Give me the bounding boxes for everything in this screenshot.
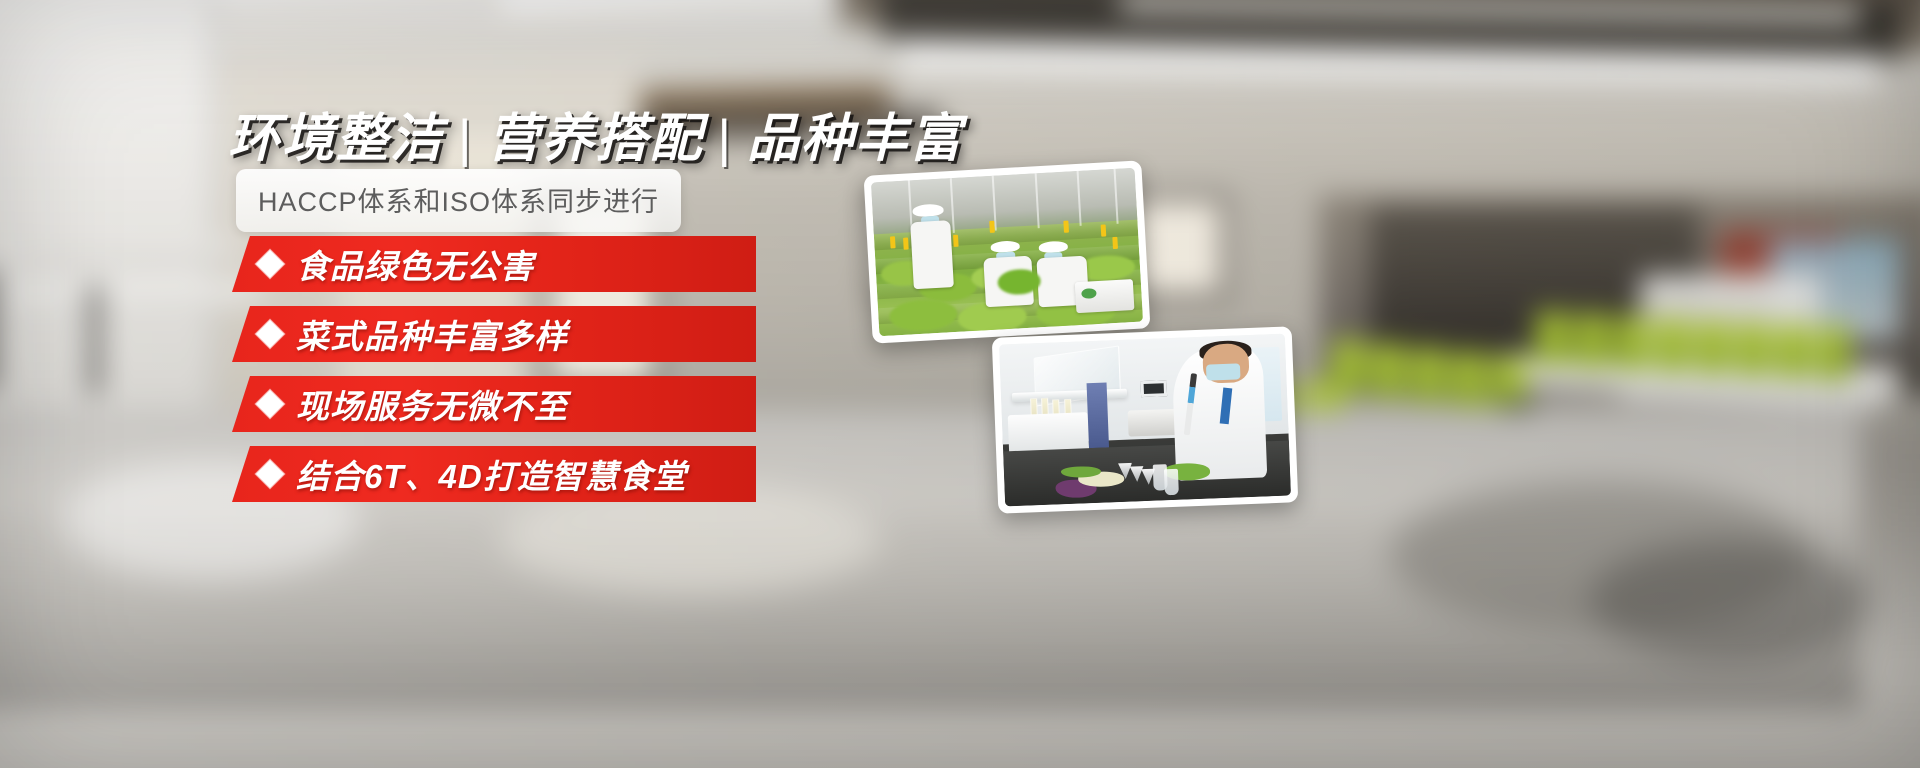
headline-part-3: 品种丰富 xyxy=(747,110,963,168)
page-title: 环境整洁|营养搭配|品种丰富 xyxy=(228,96,963,171)
greenhouse-inspection-photo xyxy=(864,160,1151,343)
feature-item-1-label: 食品绿色无公害 xyxy=(296,240,534,288)
diamond-icon xyxy=(256,390,284,418)
headline-separator-2: | xyxy=(704,110,748,168)
feature-item-2[interactable]: 菜式品种丰富多样 xyxy=(232,306,756,362)
promo-banner: 环境整洁|营养搭配|品种丰富 HACCP体系和ISO体系同步进行 食品绿色无公害… xyxy=(0,0,1920,768)
subtitle-text: HACCP体系和ISO体系同步进行 xyxy=(258,187,659,217)
headline-part-1: 环境整洁 xyxy=(228,110,444,168)
headline-separator-1: | xyxy=(444,110,488,168)
diamond-icon xyxy=(256,320,284,348)
feature-item-1[interactable]: 食品绿色无公害 xyxy=(232,236,756,292)
subtitle-badge: HACCP体系和ISO体系同步进行 xyxy=(236,169,681,232)
diamond-icon xyxy=(256,250,284,278)
feature-list: 食品绿色无公害 菜式品种丰富多样 现场服务无微不至 结合6T、4D打造智慧食堂 xyxy=(232,236,756,516)
lab-testing-photo xyxy=(992,326,1299,513)
feature-item-3[interactable]: 现场服务无微不至 xyxy=(232,376,756,432)
feature-item-3-label: 现场服务无微不至 xyxy=(296,380,568,428)
feature-item-2-label: 菜式品种丰富多样 xyxy=(296,310,568,358)
diamond-icon xyxy=(256,460,284,488)
headline-part-2: 营养搭配 xyxy=(488,110,704,168)
feature-item-4[interactable]: 结合6T、4D打造智慧食堂 xyxy=(232,446,756,502)
feature-item-4-label: 结合6T、4D打造智慧食堂 xyxy=(296,450,687,498)
